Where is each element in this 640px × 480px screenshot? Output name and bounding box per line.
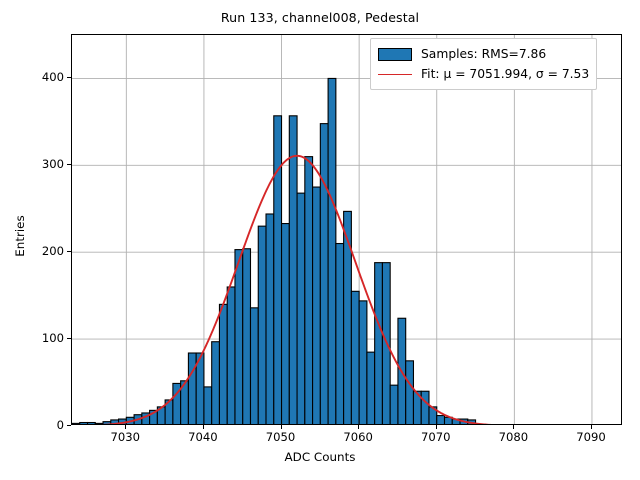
histogram-bar [359, 301, 367, 425]
histogram-bar [375, 263, 383, 425]
x-tick-label: 7080 [499, 430, 529, 444]
x-axis-label: ADC Counts [0, 450, 640, 464]
histogram-bar [336, 244, 344, 425]
x-tick-mark [125, 425, 126, 429]
y-tick-mark [67, 338, 71, 339]
histogram-bar [212, 342, 220, 425]
chart-legend: Samples: RMS=7.86 Fit: μ = 7051.994, σ =… [370, 38, 597, 90]
histogram-bar [282, 224, 290, 425]
legend-line-icon [378, 74, 412, 75]
x-tick-label: 7050 [266, 430, 296, 444]
x-tick-label: 7090 [576, 430, 606, 444]
y-tick-label: 400 [20, 70, 64, 84]
histogram-bar [95, 423, 103, 425]
legend-patch-icon [378, 48, 412, 61]
y-axis-label: Entries [13, 156, 27, 316]
histogram-bar [344, 211, 352, 425]
legend-label-fit: Fit: μ = 7051.994, σ = 7.53 [421, 67, 589, 81]
histogram-bar [367, 352, 375, 425]
x-tick-mark [358, 425, 359, 429]
legend-item-fit: Fit: μ = 7051.994, σ = 7.53 [378, 64, 589, 84]
x-tick-label: 7060 [343, 430, 373, 444]
histogram-bar [250, 308, 258, 425]
histogram-bar [188, 353, 196, 425]
histogram-bar [320, 124, 328, 425]
histogram-bars [72, 78, 476, 425]
histogram-bar [111, 420, 119, 425]
histogram-bar [88, 423, 96, 425]
histogram-bar [289, 116, 297, 425]
histogram-bar [258, 226, 266, 425]
histogram-bar [437, 416, 445, 425]
page-title: Run 133, channel008, Pedestal [0, 10, 640, 25]
y-tick-mark [67, 251, 71, 252]
y-tick-label: 100 [20, 331, 64, 345]
histogram-bar [266, 214, 274, 425]
legend-label-samples: Samples: RMS=7.86 [421, 47, 546, 61]
x-tick-mark [591, 425, 592, 429]
y-tick-mark [67, 164, 71, 165]
histogram-bar [227, 287, 235, 425]
histogram-bar [313, 187, 321, 425]
x-tick-mark [436, 425, 437, 429]
legend-item-samples: Samples: RMS=7.86 [378, 44, 589, 64]
histogram-bar [406, 361, 414, 425]
x-tick-mark [203, 425, 204, 429]
histogram-bar [305, 157, 313, 425]
histogram-bar [351, 291, 359, 425]
histogram-bar [204, 387, 212, 425]
histogram-bar [235, 250, 243, 425]
y-tick-mark [67, 77, 71, 78]
x-tick-mark [513, 425, 514, 429]
y-tick-label: 0 [20, 418, 64, 432]
histogram-bar [219, 304, 227, 425]
plot-area [71, 34, 622, 425]
histogram-bar [274, 116, 282, 425]
x-tick-label: 7030 [111, 430, 141, 444]
histogram-bar [328, 78, 336, 425]
histogram-figure: Run 133, channel008, Pedestal 0100200300… [0, 0, 640, 480]
histogram-bar [297, 193, 305, 425]
x-tick-label: 7070 [421, 430, 451, 444]
histogram-bar [421, 391, 429, 425]
histogram-bar [103, 422, 111, 425]
histogram-bar [72, 423, 80, 425]
chart-canvas [72, 35, 622, 425]
histogram-bar [390, 385, 398, 425]
histogram-bar [243, 249, 251, 425]
x-tick-mark [281, 425, 282, 429]
histogram-bar [80, 423, 88, 425]
y-tick-mark [67, 425, 71, 426]
x-tick-label: 7040 [188, 430, 218, 444]
